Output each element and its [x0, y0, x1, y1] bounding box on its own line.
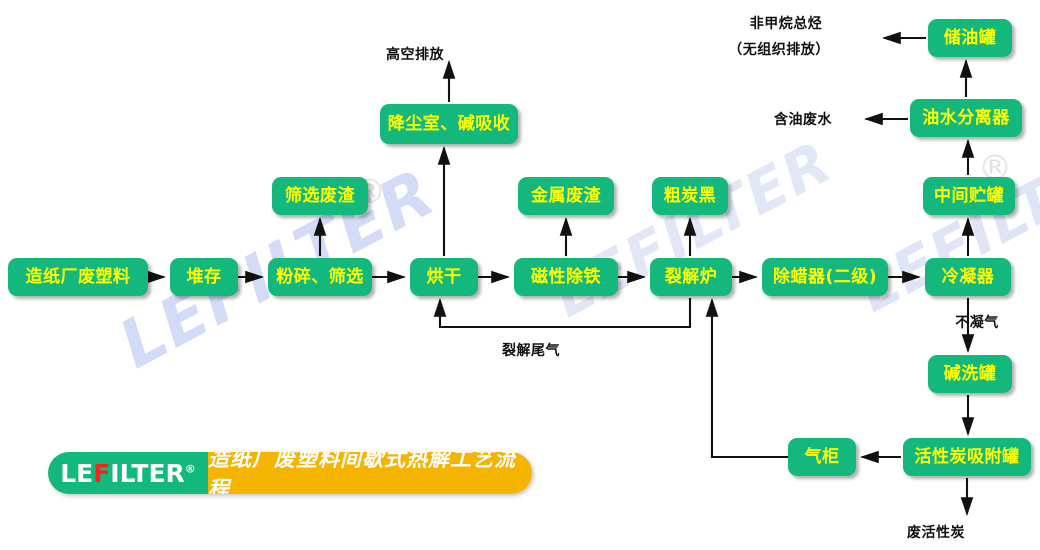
note-spent-activated-carbon: 废活性炭	[907, 523, 965, 544]
node-activated-carbon-adsorption-tank[interactable]: 活性炭吸附罐	[903, 438, 1031, 476]
node-dust-chamber-alkali-absorption[interactable]: 降尘室、碱吸收	[380, 104, 518, 144]
brand-logo: LEFILTER®	[48, 452, 208, 494]
node-screening-residue[interactable]: 筛选废渣	[272, 177, 368, 215]
node-gas-holder[interactable]: 气柜	[788, 438, 856, 476]
node-magnetic-iron-removal[interactable]: 磁性除铁	[514, 258, 618, 296]
node-pyrolysis-furnace[interactable]: 裂解炉	[650, 258, 732, 296]
logo-part-ilter: ILTER	[110, 459, 184, 488]
node-crushing-screening[interactable]: 粉碎、筛选	[268, 258, 372, 296]
logo-part-f: F	[93, 459, 110, 488]
note-pyrolysis-tail-gas: 裂解尾气	[502, 341, 560, 362]
node-storage[interactable]: 堆存	[170, 258, 238, 296]
node-oil-water-separator[interactable]: 油水分离器	[910, 99, 1022, 137]
note-high-altitude-emission: 高空排放	[386, 45, 444, 66]
node-condenser[interactable]: 冷凝器	[925, 258, 1011, 296]
flowchart-canvas: LEFILTER LEFILTER LEFILTER ® ®	[0, 0, 1040, 550]
node-dewaxer-two-stage[interactable]: 除蜡器(二级)	[762, 258, 888, 296]
node-alkali-wash-tank[interactable]: 碱洗罐	[928, 355, 1012, 393]
node-metal-slag[interactable]: 金属废渣	[518, 177, 614, 215]
note-oily-wastewater: 含油废水	[774, 110, 832, 131]
diagram-title: 造纸厂废塑料间歇式热解工艺流程	[208, 452, 532, 494]
edge-n9-n5-tailgas	[440, 298, 690, 327]
node-oil-storage-tank[interactable]: 储油罐	[928, 19, 1012, 57]
footer-badge: LEFILTER® 造纸厂废塑料间歇式热解工艺流程	[48, 452, 532, 494]
note-non-condensable-gas: 不凝气	[955, 313, 999, 334]
watermark-lefilter-center: LEFILTER	[542, 127, 843, 330]
registered-trademark-icon: ®	[185, 462, 196, 475]
edge-n18-n9	[712, 300, 788, 457]
brand-logo-text: LEFILTER®	[60, 461, 196, 486]
node-intermediate-storage-tank[interactable]: 中间贮罐	[923, 177, 1015, 215]
node-waste-plastic-source[interactable]: 造纸厂废塑料	[8, 258, 148, 296]
node-crude-carbon-black[interactable]: 粗炭黑	[652, 177, 728, 215]
note-fugitive-emission: （无组织排放）	[728, 40, 830, 61]
node-drying[interactable]: 烘干	[410, 258, 478, 296]
note-nmhc: 非甲烷总烃	[750, 14, 823, 35]
logo-part-le: LE	[60, 459, 93, 488]
